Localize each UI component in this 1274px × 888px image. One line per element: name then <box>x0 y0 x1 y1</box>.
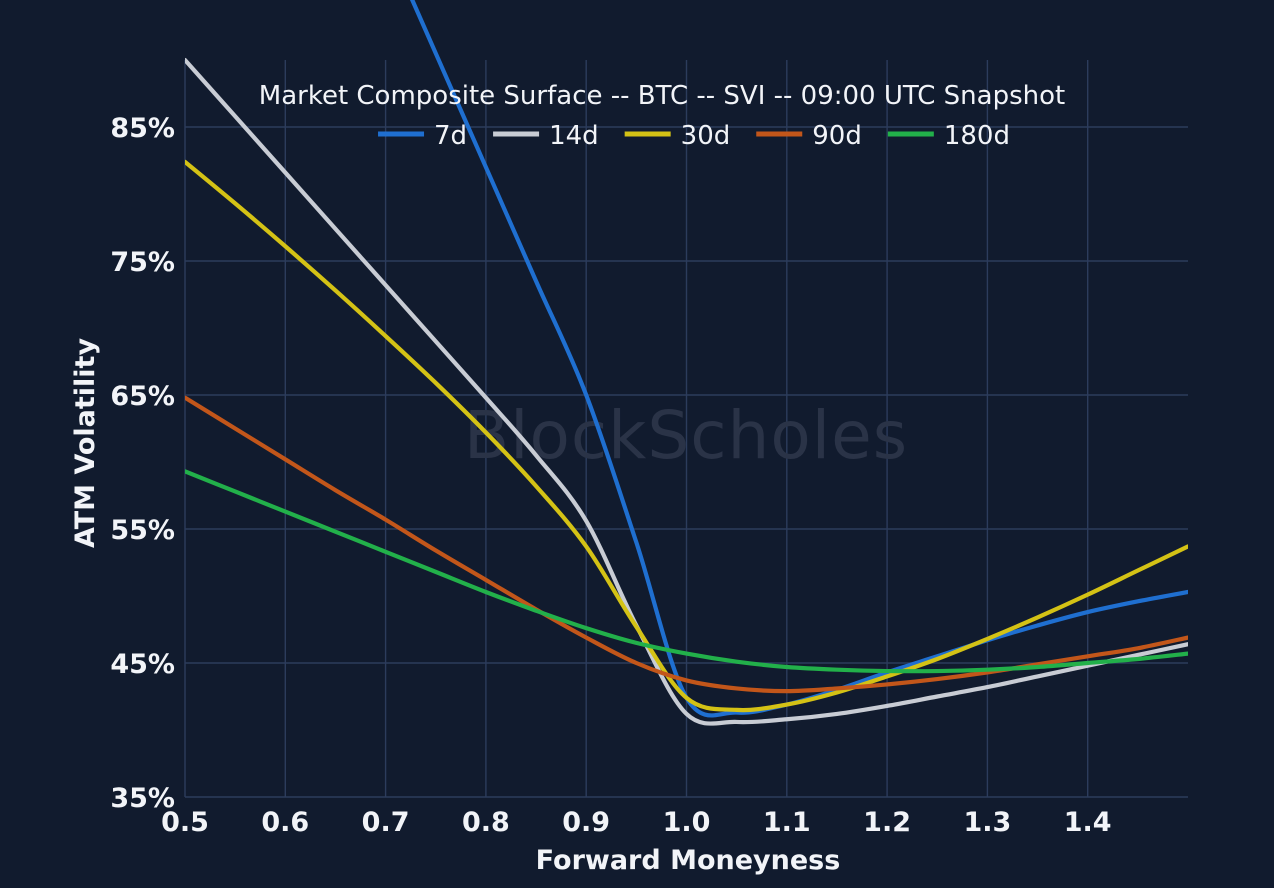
chart-container: BlockScholes 35%45%55%65%75%85% 0.50.60.… <box>0 0 1274 888</box>
x-tick-label: 0.6 <box>261 807 309 838</box>
legend-label-30d: 30d <box>681 121 731 151</box>
legend-label-14d: 14d <box>549 121 599 151</box>
legend-label-7d: 7d <box>434 121 467 151</box>
x-tick-label: 0.9 <box>562 807 610 838</box>
x-tick-label: 0.8 <box>462 807 510 838</box>
y-tick-label: 65% <box>110 381 175 412</box>
x-tick-label: 1.2 <box>863 807 911 838</box>
y-axis-title: ATM Volatility <box>70 338 101 549</box>
x-tick-label: 1.3 <box>963 807 1011 838</box>
x-tick-label: 0.5 <box>161 807 209 838</box>
x-tick-label: 1.1 <box>763 807 811 838</box>
y-tick-label: 45% <box>110 649 175 680</box>
atm-volatility-line-chart: BlockScholes 35%45%55%65%75%85% 0.50.60.… <box>0 0 1274 888</box>
y-tick-label: 85% <box>110 113 175 144</box>
x-tick-label: 0.7 <box>362 807 410 838</box>
x-tick-label: 1.4 <box>1064 807 1112 838</box>
legend-label-90d: 90d <box>812 121 862 151</box>
y-tick-label: 55% <box>110 515 175 546</box>
x-tick-label: 1.0 <box>663 807 711 838</box>
watermark-label: BlockScholes <box>464 397 908 474</box>
y-tick-label: 75% <box>110 247 175 278</box>
legend-label-180d: 180d <box>944 121 1010 151</box>
x-axis-title: Forward Moneyness <box>536 845 841 876</box>
chart-title: Market Composite Surface -- BTC -- SVI -… <box>259 81 1065 111</box>
